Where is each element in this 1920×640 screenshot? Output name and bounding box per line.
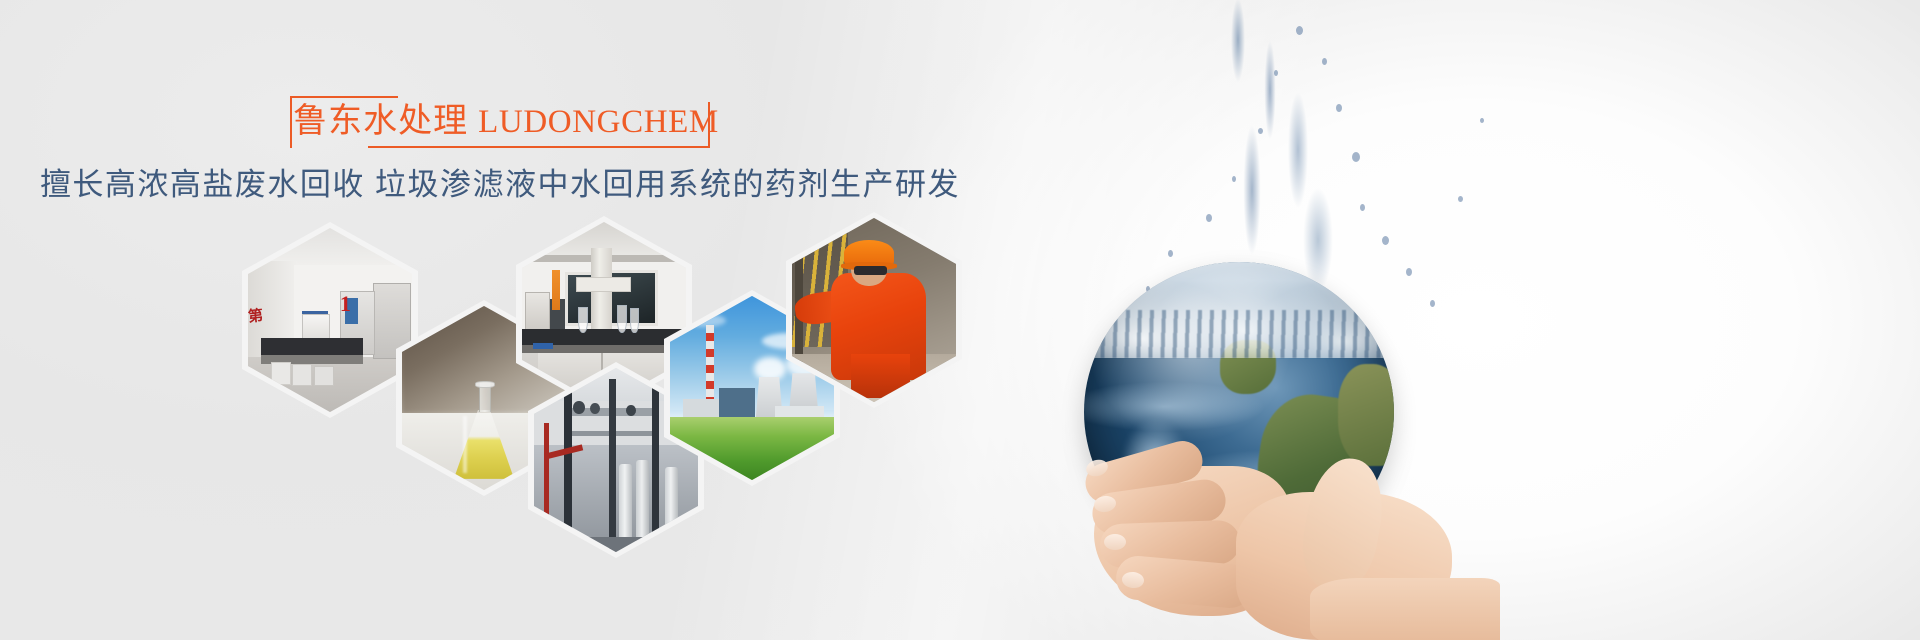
brand-title-frame: 鲁东水处理 LUDONGCHEM: [290, 96, 710, 150]
lab-slogan-number: 1: [340, 291, 351, 317]
water-droplet: [1258, 128, 1263, 134]
water-droplet: [1480, 118, 1484, 123]
water-droplet: [1458, 196, 1463, 202]
water-droplet: [1352, 152, 1360, 162]
water-droplet: [1382, 236, 1389, 245]
erlenmeyer-flask: [451, 383, 517, 479]
fume-hood-column: [591, 248, 612, 340]
fingernail: [1104, 534, 1126, 550]
filter-vessel-1: [619, 464, 632, 545]
orange-lab-stand: [552, 270, 560, 310]
worker-safety-glasses: [854, 266, 887, 275]
banner-text-block: 鲁东水处理 LUDONGCHEM 擅长高浓高盐废水回收 垃圾渗滤液中水回用系统的…: [0, 96, 1000, 203]
water-droplet: [1296, 26, 1303, 35]
plant-block-main: [719, 388, 755, 421]
flask-highlight: [463, 416, 467, 473]
glassware-2: [617, 305, 627, 333]
filter-vessel-3: [665, 467, 678, 544]
lab-slogan-line1: 放在: [267, 228, 289, 245]
valve-1: [573, 401, 584, 414]
banner-subtitle: 擅长高浓高盐废水回收 垃圾渗滤液中水回用系统的药剂生产研发: [0, 166, 1000, 203]
globe-water-crown-edge: [1090, 310, 1388, 358]
water-droplet: [1430, 300, 1435, 307]
valve-2: [590, 403, 600, 414]
lab-oven: [525, 292, 550, 331]
water-droplet: [1336, 104, 1342, 112]
lab-storage-box-2: [292, 364, 312, 386]
water-droplet: [1406, 268, 1412, 276]
hero-banner: 鲁东水处理 LUDONGCHEM 擅长高浓高盐废水回收 垃圾渗滤液中水回用系统的…: [0, 0, 1920, 640]
wrist: [1310, 578, 1500, 640]
filter-vessel-2: [636, 460, 649, 545]
lab-storage-box-3: [314, 366, 334, 386]
brand-title-chinese: 鲁东水处理: [293, 105, 468, 139]
worker-bg-vertical-pipe: [795, 218, 803, 362]
plant-floor: [534, 537, 698, 552]
fume-hood-canopy: [576, 277, 630, 292]
water-droplet: [1232, 176, 1236, 182]
water-droplet: [1206, 214, 1212, 222]
valve-3: [626, 405, 636, 416]
steel-frame-3: [652, 386, 659, 552]
water-droplet: [1274, 70, 1278, 76]
human-hands: [1060, 400, 1530, 640]
steel-frame-2: [609, 379, 616, 552]
water-droplet: [1360, 204, 1365, 211]
brand-title-english: LUDONGCHEM: [478, 106, 719, 139]
lab-slogan-line2: 第: [248, 305, 262, 327]
bracket-left-icon: [290, 96, 292, 148]
water-droplet: [1322, 58, 1327, 65]
page-title: 鲁东水处理 LUDONGCHEM: [302, 97, 710, 147]
water-droplet: [1168, 250, 1173, 257]
blue-lab-tray: [533, 343, 553, 349]
hands-holding-water-globe: [1060, 0, 1580, 640]
water-splash-column: [1178, 0, 1368, 300]
lab-bench-top: [261, 338, 363, 355]
glassware-1: [578, 307, 588, 333]
glassware-3: [630, 308, 639, 332]
red-pipe-vertical: [544, 423, 549, 526]
flask-lip: [475, 381, 495, 388]
